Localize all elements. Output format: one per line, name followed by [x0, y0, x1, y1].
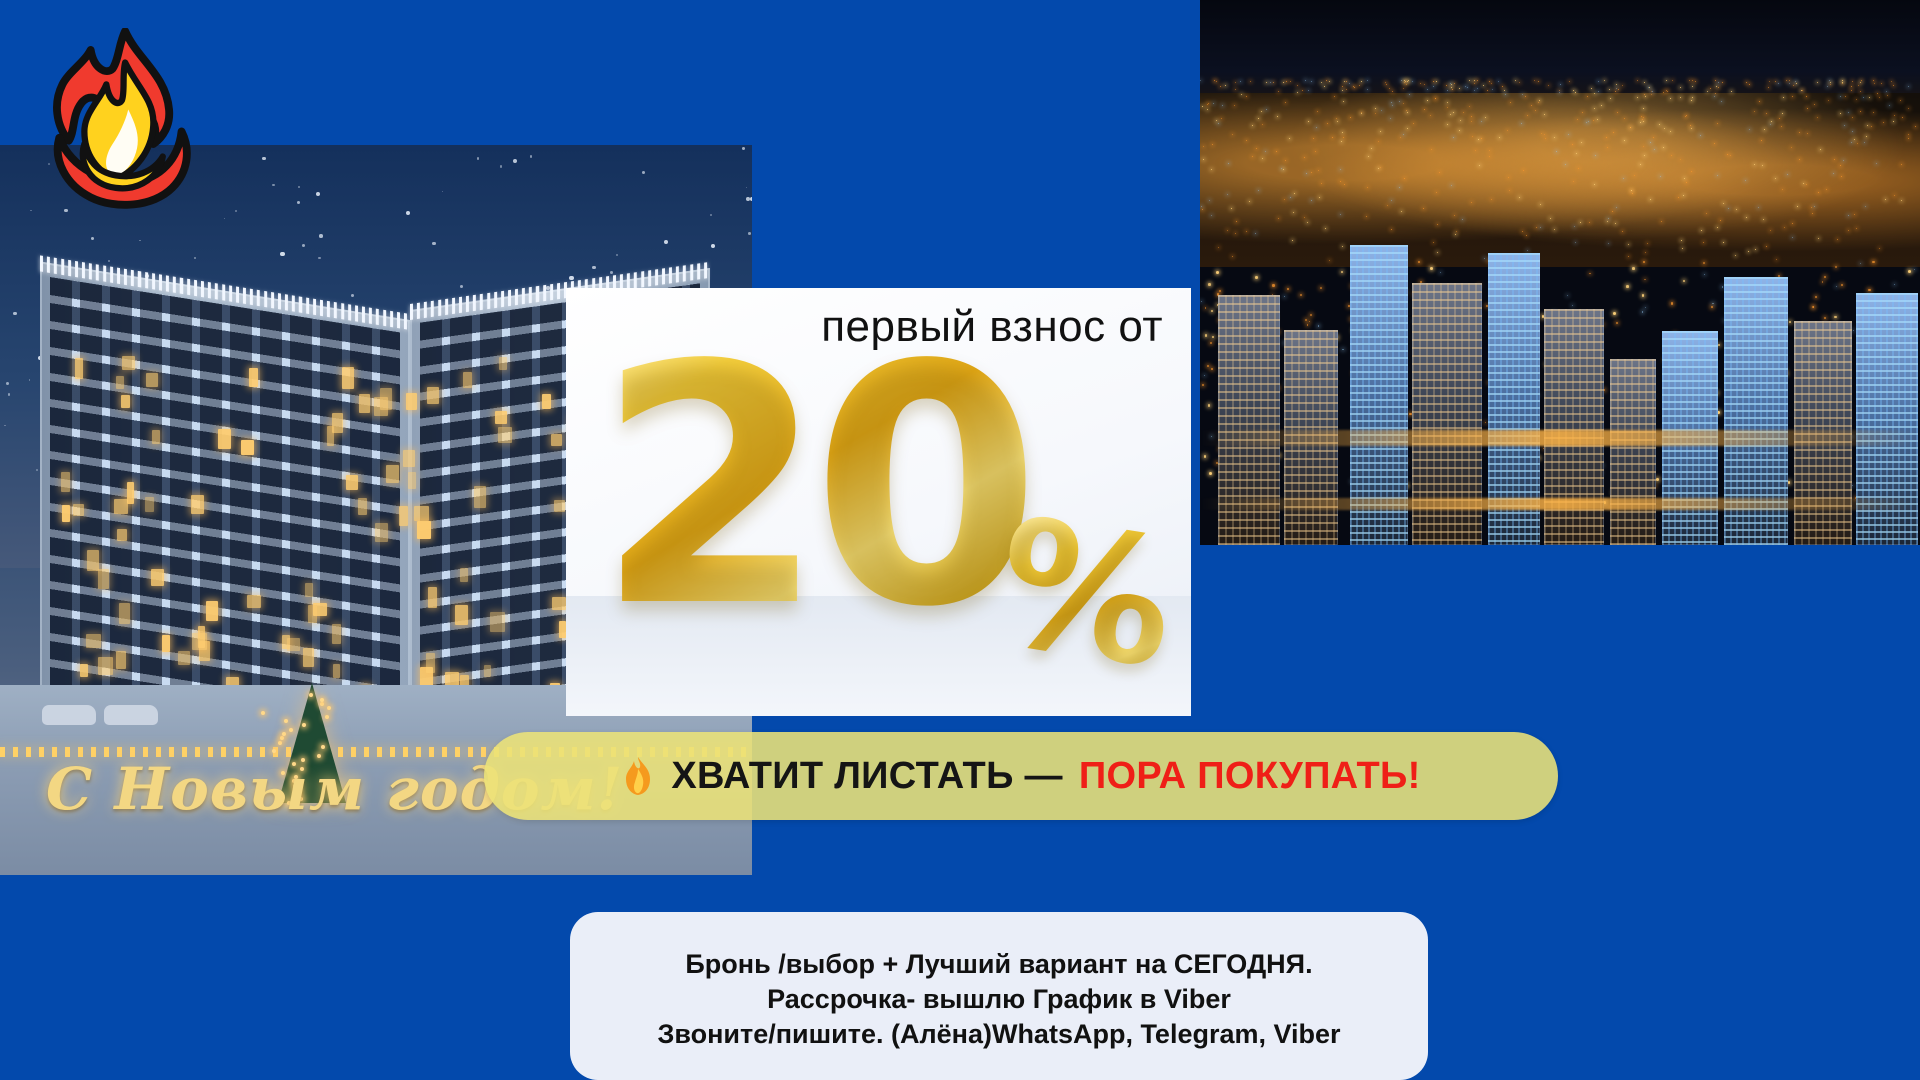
percent-symbol: % — [985, 494, 1186, 694]
contact-line-3: Звоните/пишите. (Алёна)WhatsApp, Telegra… — [657, 1019, 1340, 1050]
contact-line-2: Рассрочка- вышлю График в Viber — [767, 984, 1231, 1015]
fire-icon — [42, 28, 202, 213]
percent-number: 20 — [596, 322, 1056, 692]
fire-icon — [621, 756, 655, 796]
night-city-photo — [1200, 0, 1920, 545]
discount-panel: первый взнос от 20 % — [566, 288, 1191, 716]
call-to-action-banner[interactable]: ХВАТИТ ЛИСТАТЬ — ПОРА ПОКУПАТЬ! — [484, 732, 1558, 820]
parked-car — [42, 705, 96, 725]
contact-card: Бронь /выбор + Лучший вариант на СЕГОДНЯ… — [570, 912, 1428, 1080]
poster-canvas: С Новым годом! первый взнос от 20 % ХВАТ… — [0, 0, 1920, 1080]
contact-line-1: Бронь /выбор + Лучший вариант на СЕГОДНЯ… — [685, 949, 1312, 980]
banner-text-red: ПОРА ПОКУПАТЬ! — [1079, 755, 1421, 798]
parked-car — [104, 705, 158, 725]
banner-text-dark: ХВАТИТ ЛИСТАТЬ — — [671, 755, 1062, 798]
